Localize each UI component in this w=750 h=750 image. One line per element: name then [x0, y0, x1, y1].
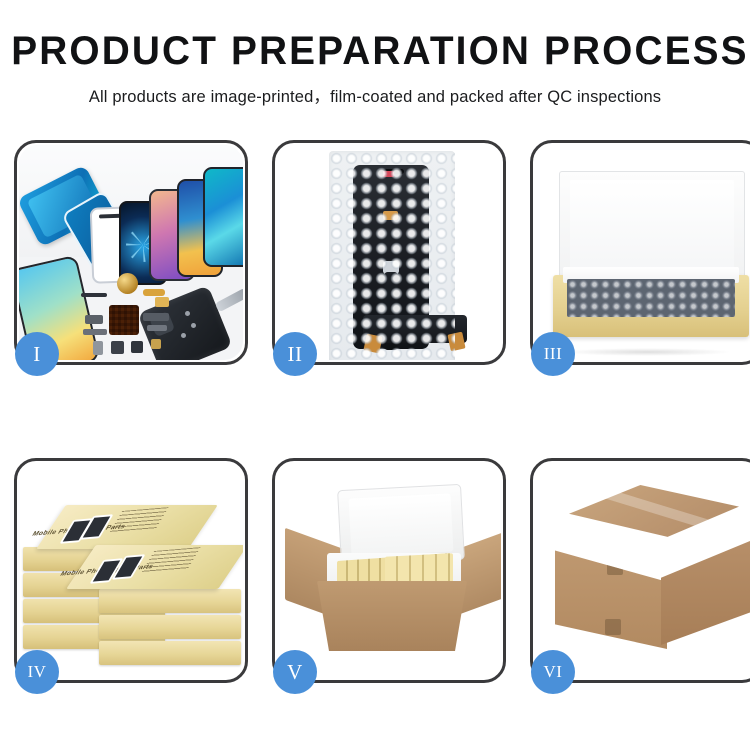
button-part-icon	[131, 341, 143, 353]
step-2-photo	[277, 145, 501, 360]
step-badge-5: V	[273, 650, 317, 694]
stacked-box	[99, 589, 241, 613]
step-5-photo	[277, 463, 501, 678]
open-inner-box	[553, 171, 749, 341]
step-4-photo: Mobile Phone Spare Parts Mobile Phone Sp…	[19, 463, 243, 678]
camera-module-icon	[85, 315, 103, 324]
box-stack: Mobile Phone Spare Parts Mobile Phone Sp…	[23, 479, 243, 675]
antenna-strip-icon	[83, 329, 107, 335]
teal-phone-icon	[203, 167, 243, 267]
screw-icon	[181, 333, 186, 338]
page-subtitle: All products are image-printed，film-coat…	[0, 83, 750, 107]
step-1-photo	[19, 145, 243, 360]
speaker-coil-icon	[117, 273, 138, 294]
process-step-1[interactable]: I	[14, 140, 248, 365]
process-step-3[interactable]: III	[530, 140, 750, 365]
spare-parts-cluster	[81, 271, 201, 360]
process-step-6[interactable]: VI	[530, 458, 750, 683]
bubble-wrap-bag	[329, 151, 455, 360]
tweezers-icon	[215, 288, 243, 313]
process-step-grid: I II	[14, 140, 736, 683]
stacked-box	[99, 615, 241, 639]
sim-tray-icon	[93, 341, 103, 355]
connector-icon	[155, 297, 169, 307]
shipping-carton-open	[293, 493, 493, 655]
step-badge-3: III	[531, 332, 575, 376]
drop-shadow	[562, 348, 732, 356]
gold-contact-icon	[151, 339, 161, 349]
step-badge-6: VI	[531, 650, 575, 694]
flex-cable-icon	[143, 289, 165, 296]
process-step-4[interactable]: Mobile Phone Spare Parts Mobile Phone Sp…	[14, 458, 248, 683]
carton-notch	[605, 619, 621, 635]
bubble-texture	[329, 151, 455, 360]
step-3-photo	[535, 145, 750, 360]
product-preparation-infographic: PRODUCT PREPARATION PROCESS All products…	[0, 0, 750, 750]
small-flex-icon	[147, 325, 167, 331]
step-badge-2: II	[273, 332, 317, 376]
step-6-photo	[535, 463, 750, 678]
process-step-2[interactable]: II	[272, 140, 506, 365]
screw-icon	[185, 311, 190, 316]
vibrator-icon	[111, 341, 124, 354]
carton-body	[317, 581, 467, 651]
carton-notch	[607, 559, 623, 575]
screw-icon	[191, 323, 196, 328]
earpiece-icon	[81, 293, 107, 297]
carton-side-face	[661, 533, 750, 645]
step-badge-4: IV	[15, 650, 59, 694]
carton-front-face	[555, 537, 667, 649]
process-step-5[interactable]: V	[272, 458, 506, 683]
stacked-box	[99, 641, 241, 665]
sealed-carton	[549, 485, 750, 663]
bubble-fill	[567, 279, 735, 317]
box-tray	[553, 275, 749, 337]
page-title: PRODUCT PREPARATION PROCESS	[11, 30, 739, 72]
ribbon-cable-icon	[143, 313, 169, 321]
chip-grid-icon	[109, 305, 139, 335]
header: PRODUCT PREPARATION PROCESS All products…	[0, 0, 750, 107]
step-badge-1: I	[15, 332, 59, 376]
